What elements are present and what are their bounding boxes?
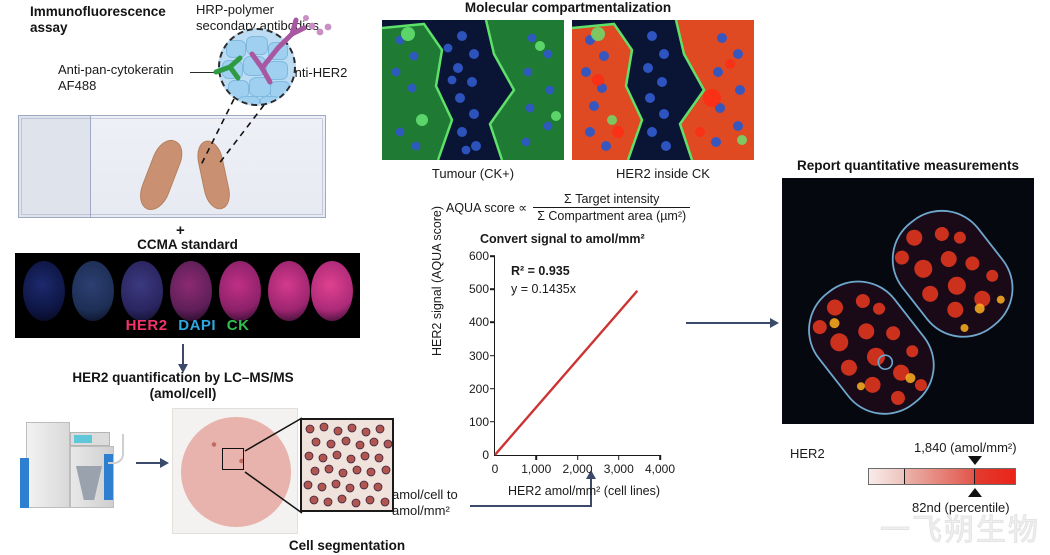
cluster-to-tissue-callout-lines	[200, 95, 330, 190]
y-tick-600: 600	[469, 249, 489, 263]
formula-denominator: Σ Compartment area (µm²)	[533, 207, 690, 223]
conversion-line2: amol/mm²	[392, 503, 472, 519]
lcms-line2: (amol/cell)	[18, 386, 348, 402]
assay-title-line1: Immunofluorescence	[30, 4, 220, 20]
arrow-lcms-to-segmentation	[136, 462, 162, 464]
lcms-instrument-image	[12, 412, 132, 510]
y-tick-0: 0	[482, 448, 489, 462]
scalebar-segment-high	[974, 469, 1015, 484]
report-tissue-render	[782, 178, 1034, 424]
chart-title: Convert signal to amol/mm²	[480, 232, 734, 246]
chart-equation-annotation: y = 0.1435x	[511, 282, 576, 296]
x-tick-3000: 3,000	[604, 462, 634, 476]
conversion-line1: amol/cell to	[392, 487, 472, 503]
scalebar-segment-low	[869, 469, 904, 484]
molecular-title: Molecular compartmentalization	[382, 0, 754, 16]
legend-her2: HER2	[126, 317, 168, 334]
legend-ck: CK	[227, 317, 250, 334]
x-tick-1000: 1,000	[521, 462, 551, 476]
arrow-chart-to-report	[686, 322, 772, 324]
tissue-section-1	[135, 135, 188, 214]
formula-lhs: AQUA score ∝	[446, 200, 527, 215]
x-tick-0: 0	[492, 462, 499, 476]
hrp-secondary-antibody-icon	[252, 20, 304, 82]
tumour-ck-render	[382, 20, 564, 160]
chart-x-axis-label: HER2 amol/mm² (cell lines)	[494, 484, 674, 498]
anti-cytokeratin-antibody-icon	[216, 58, 240, 78]
y-tick-500: 500	[469, 282, 489, 296]
tumour-ck-image	[382, 20, 564, 160]
tumour-ck-caption: Tumour (CK+)	[382, 166, 564, 182]
conversion-label: amol/cell to amol/mm²	[392, 487, 472, 518]
chart-y-axis-label: HER2 signal (AQUA score)	[430, 206, 444, 356]
formula-numerator: Σ Target intensity	[533, 192, 690, 207]
scalebar-segment-mid	[904, 469, 974, 484]
arrow-chart-to-report-head	[770, 318, 779, 328]
zoom-callout-lines	[240, 415, 306, 525]
conversion-chart: Convert signal to amol/mm² HER2 signal (…	[436, 232, 690, 484]
hrp-polymer-dots-icon	[303, 15, 331, 35]
arrow-ccma-to-lcms	[182, 344, 184, 366]
her2-scalebar-label: HER2	[790, 446, 825, 462]
anti-ck-line1: Anti-pan-cytokeratin	[58, 62, 208, 78]
her2-percentile-marker	[968, 488, 982, 497]
legend-dapi: DAPI	[178, 317, 216, 334]
segmented-cells	[302, 420, 394, 512]
her2-value-marker	[968, 456, 982, 465]
her2-inside-ck-image	[572, 20, 754, 160]
y-tick-100: 100	[469, 415, 489, 429]
anti-ck-line2: AF488	[58, 78, 208, 94]
chart-plot-area: 600 500 400 300 200 100 0 0 1,000 2,000 …	[494, 256, 660, 456]
slide-frosted-end	[19, 116, 91, 217]
ccma-channel-legend: HER2 DAPI CK	[15, 317, 360, 334]
cell-segmentation-caption: Cell segmentation	[282, 538, 412, 554]
her2-inside-ck-render	[572, 20, 754, 160]
report-title: Report quantitative measurements	[782, 158, 1034, 174]
arrow-lcms-to-segmentation-head	[160, 458, 169, 468]
ccma-standard-image: HER2 DAPI CK	[15, 253, 360, 338]
her2-value-label: 1,840 (amol/mm²)	[914, 440, 1017, 456]
assay-title: Immunofluorescence assay	[30, 4, 220, 36]
watermark: 一飞朔生物	[880, 505, 1040, 549]
x-tick-2000: 2,000	[562, 462, 592, 476]
arrow-conversion-horizontal	[470, 505, 592, 507]
anti-cytokeratin-label: Anti-pan-cytokeratin AF488	[58, 62, 208, 93]
y-tick-300: 300	[469, 349, 489, 363]
assay-title-line2: assay	[30, 20, 220, 36]
y-tick-400: 400	[469, 315, 489, 329]
cell-segmentation-zoom-image	[300, 418, 394, 512]
aqua-score-formula: AQUA score ∝ Σ Target intensity Σ Compar…	[446, 192, 708, 223]
her2-inside-ck-caption: HER2 inside CK	[572, 166, 754, 182]
y-tick-200: 200	[469, 382, 489, 396]
her2-scale-bar	[868, 468, 1016, 485]
formula-fraction: Σ Target intensity Σ Compartment area (µ…	[533, 192, 690, 223]
lcms-line1: HER2 quantification by LC–MS/MS	[18, 370, 348, 386]
ccma-title: CCMA standard	[15, 237, 360, 253]
chart-r-squared-annotation: R² = 0.935	[511, 264, 570, 278]
report-tissue-image	[782, 178, 1034, 424]
x-tick-4000: 4,000	[645, 462, 675, 476]
lcms-label: HER2 quantification by LC–MS/MS (amol/ce…	[18, 370, 348, 402]
